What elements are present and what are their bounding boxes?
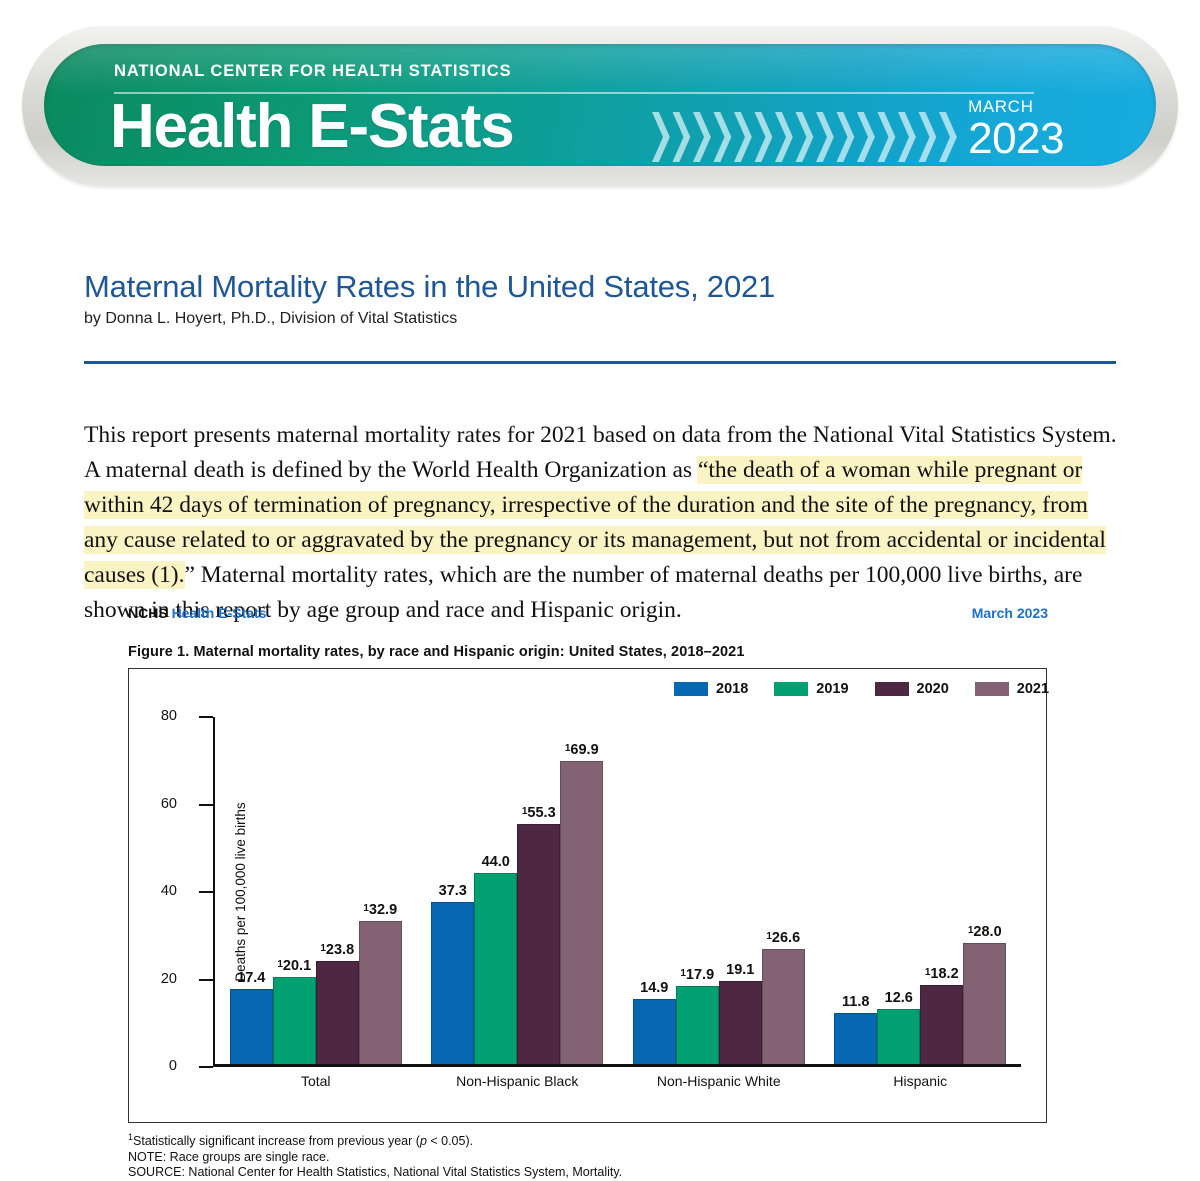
footnote-significance: 1Statistically significant increase from…	[128, 1130, 622, 1150]
bar-group-hispanic: 11.812.6118.2128.0Hispanic	[820, 717, 1022, 1064]
chart-plot-area: Deaths per 100,000 live births 020406080…	[213, 717, 1021, 1067]
figure-running-header: NCHS Health E-Stats March 2023	[128, 605, 1048, 621]
bar-value-label: 37.3	[439, 883, 467, 899]
title-divider	[84, 361, 1116, 364]
bar-2021-non-hispanic-white: 126.6	[762, 949, 805, 1064]
y-tick-60: 60	[199, 804, 213, 806]
bar-2020-non-hispanic-black: 155.3	[517, 824, 560, 1064]
bar-value-label: 118.2	[925, 966, 959, 982]
chart-bar-groups: 17.4120.1123.8132.9Total37.344.0155.3169…	[215, 717, 1021, 1064]
y-tick-label-0: 0	[169, 1058, 177, 1074]
nchs-label: NCHS	[128, 605, 168, 621]
banner-organization-label: NATIONAL CENTER FOR HEALTH STATISTICS	[114, 62, 512, 81]
bar-value-label: 117.9	[680, 967, 714, 983]
y-tick-label-80: 80	[161, 708, 177, 724]
bar-2019-non-hispanic-black: 44.0	[474, 873, 517, 1064]
bar-value-label: 17.4	[237, 970, 265, 986]
bar-2019-non-hispanic-white: 117.9	[676, 986, 719, 1064]
bar-value-label: 123.8	[320, 942, 354, 958]
y-tick-80: 80	[199, 716, 213, 718]
footnote-text-a: Statistically significant increase from …	[133, 1134, 420, 1148]
legend-label-2020: 2020	[917, 681, 949, 697]
page-title: Maternal Mortality Rates in the United S…	[84, 269, 775, 305]
bar-group-total: 17.4120.1123.8132.9Total	[215, 717, 417, 1064]
banner-month: MARCH	[968, 98, 1064, 115]
legend-item-2020: 2020	[875, 681, 949, 697]
bar-group-non-hispanic-black: 37.344.0155.3169.9Non-Hispanic Black	[417, 717, 619, 1064]
byline: by Donna L. Hoyert, Ph.D., Division of V…	[84, 310, 457, 328]
y-tick-20: 20	[199, 979, 213, 981]
bar-2020-total: 123.8	[316, 961, 359, 1064]
bar-value-label: 128.0	[968, 924, 1002, 940]
y-tick-label-60: 60	[161, 796, 177, 812]
figure-caption: Figure 1. Maternal mortality rates, by r…	[128, 644, 745, 660]
x-axis-group-label: Non-Hispanic Black	[456, 1073, 578, 1089]
bar-value-label: 19.1	[726, 962, 754, 978]
bar-2018-hispanic: 11.8	[834, 1013, 877, 1064]
legend-swatch-2018	[674, 682, 708, 696]
bar-2019-hispanic: 12.6	[877, 1009, 920, 1064]
bar-value-label: 44.0	[482, 854, 510, 870]
y-tick-40: 40	[199, 891, 213, 893]
bar-value-label: 120.1	[277, 958, 311, 974]
legend-swatch-2021	[975, 682, 1009, 696]
legend-label-2021: 2021	[1017, 681, 1049, 697]
bar-value-label: 169.9	[565, 742, 599, 758]
x-axis-group-label: Non-Hispanic White	[657, 1073, 781, 1089]
x-axis-group-label: Hispanic	[893, 1073, 947, 1089]
legend-item-2018: 2018	[674, 681, 748, 697]
footnote-p-symbol: p	[420, 1134, 427, 1148]
bar-2021-non-hispanic-black: 169.9	[560, 761, 603, 1064]
bar-value-label: 126.6	[766, 930, 800, 946]
bar-group-non-hispanic-white: 14.9117.919.1126.6Non-Hispanic White	[618, 717, 820, 1064]
figure-source: SOURCE: National Center for Health Stati…	[128, 1165, 622, 1181]
bar-2019-total: 120.1	[273, 977, 316, 1064]
banner-date: MARCH 2023	[968, 98, 1064, 161]
bar-2018-non-hispanic-white: 14.9	[633, 999, 676, 1064]
bar-2018-total: 17.4	[230, 989, 273, 1064]
legend-label-2019: 2019	[816, 681, 848, 697]
legend-swatch-2020	[875, 682, 909, 696]
figure-panel: 2018201920202021 Deaths per 100,000 live…	[128, 668, 1047, 1123]
legend-swatch-2019	[774, 682, 808, 696]
health-estats-banner: NATIONAL CENTER FOR HEALTH STATISTICS He…	[22, 26, 1178, 186]
bar-value-label: 12.6	[885, 990, 913, 1006]
bar-value-label: 11.8	[842, 994, 869, 1010]
intro-paragraph: This report presents maternal mortality …	[84, 418, 1120, 628]
x-axis-group-label: Total	[301, 1073, 331, 1089]
figure-header-date: March 2023	[972, 605, 1048, 621]
banner-title: Health E-Stats	[110, 96, 514, 158]
x-axis-line	[213, 1064, 1021, 1067]
bar-value-label: 155.3	[522, 805, 556, 821]
legend-item-2021: 2021	[975, 681, 1049, 697]
footnote-text-b: < 0.05).	[427, 1134, 473, 1148]
bar-value-label: 14.9	[640, 980, 668, 996]
figure-footnotes: 1Statistically significant increase from…	[128, 1130, 622, 1181]
bar-2021-hispanic: 128.0	[963, 943, 1006, 1064]
bar-2018-non-hispanic-black: 37.3	[431, 902, 474, 1064]
y-tick-0: 0	[199, 1066, 213, 1068]
figure-note: NOTE: Race groups are single race.	[128, 1150, 622, 1166]
y-tick-label-20: 20	[161, 971, 177, 987]
banner-year: 2023	[968, 117, 1064, 161]
figure-header-left: NCHS Health E-Stats	[128, 605, 266, 621]
health-estats-link[interactable]: Health E-Stats	[172, 605, 267, 621]
legend-item-2019: 2019	[774, 681, 848, 697]
chart-legend: 2018201920202021	[674, 681, 1049, 697]
y-tick-label-40: 40	[161, 883, 177, 899]
bar-2020-hispanic: 118.2	[920, 985, 963, 1064]
banner-inner: NATIONAL CENTER FOR HEALTH STATISTICS He…	[44, 44, 1156, 166]
bar-value-label: 132.9	[363, 902, 397, 918]
bar-2020-non-hispanic-white: 19.1	[719, 981, 762, 1064]
bar-2021-total: 132.9	[359, 921, 402, 1064]
chevron-arrows-icon	[652, 106, 962, 166]
legend-label-2018: 2018	[716, 681, 748, 697]
